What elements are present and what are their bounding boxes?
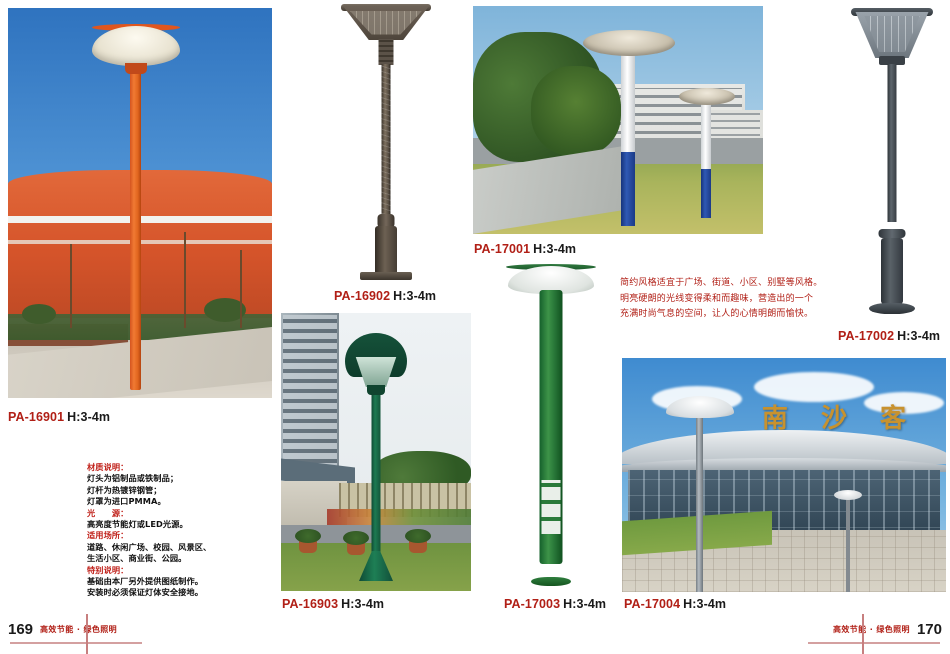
product-photo-pa-16902 [330, 4, 442, 286]
product-photo-pa-17001 [473, 6, 763, 234]
lamp-pole-near [696, 412, 703, 592]
pole-base [881, 238, 903, 304]
product-label-pa-16902: PA-16902H:3-4m [334, 289, 436, 303]
pole-diffuser [621, 50, 635, 152]
spec-note-2: 安装时必须保证灯体安全接地。 [87, 587, 237, 598]
page-number-right: 170 [917, 621, 942, 638]
bare-tree [240, 250, 242, 328]
lamp-pole [372, 391, 381, 573]
product-height: H:3-4m [533, 242, 576, 256]
spec-note-1: 基础由本厂另外提供图纸制作。 [87, 576, 237, 587]
product-code: PA-17004 [624, 597, 680, 611]
spec-material-1: 灯头为铝制品或铁制品； [87, 473, 237, 484]
footer-tagline-right: 高效节能 · 绿色照明 [826, 624, 917, 635]
product-code: PA-17002 [838, 329, 894, 343]
footer-right: 高效节能 · 绿色照明 170 [826, 618, 942, 640]
product-label-pa-17002: PA-17002H:3-4m [838, 329, 940, 343]
potted-plant [299, 540, 317, 553]
description-line-1: 简约风格适宜于广场、街道、小区、别墅等风格。 [620, 276, 832, 292]
product-code: PA-16902 [334, 289, 390, 303]
product-height: H:3-4m [393, 289, 436, 303]
flower-bed [327, 509, 471, 525]
product-code: PA-17001 [474, 242, 530, 256]
spec-usage-title: 适用场所： [87, 530, 237, 541]
product-code: PA-16901 [8, 410, 64, 424]
description-line-2: 明亮硬朗的光线变得柔和而趣味，营造出的一个 [620, 292, 832, 308]
lamp-pole-far [701, 102, 711, 218]
base-plate [531, 577, 571, 586]
footer-tagline-left: 高效节能 · 绿色照明 [33, 624, 124, 635]
product-photo-pa-16901 [8, 8, 272, 398]
product-label-pa-17001: PA-17001H:3-4m [474, 242, 576, 256]
product-photo-pa-17004: 南 沙 客 [622, 358, 946, 592]
spec-material-title: 材质说明： [87, 462, 237, 473]
base-plate [869, 303, 915, 314]
description-line-3: 充满时尚气息的空间，让人的心情明朗而愉快。 [620, 307, 832, 323]
product-height: H:3-4m [67, 410, 110, 424]
lamp-head-conical [343, 6, 429, 40]
base-plate [360, 272, 412, 280]
product-height: H:3-4m [683, 597, 726, 611]
product-height: H:3-4m [341, 597, 384, 611]
page-number-left: 169 [8, 621, 33, 638]
lamp-neck [379, 39, 394, 65]
lamp-pole [888, 64, 897, 222]
product-label-pa-17003: PA-17003H:3-4m [504, 597, 606, 611]
spec-usage-2: 生活小区、商业街、公园。 [87, 553, 237, 564]
product-height: H:3-4m [897, 329, 940, 343]
lamp-pole [130, 60, 141, 390]
lamp-disc-far [679, 88, 735, 105]
footer-left: 169 高效节能 · 绿色照明 [8, 618, 124, 640]
catalog-page-spread: PA-16901H:3-4m PA-16902H:3-4m PA-17001H:… [0, 0, 950, 654]
product-code: PA-17003 [504, 597, 560, 611]
product-photo-pa-16903 [281, 313, 471, 591]
product-photo-pa-17002 [838, 4, 946, 322]
product-label-pa-17004: PA-17004H:3-4m [624, 597, 726, 611]
spec-source-1: 高亮度节能灯或LED光源。 [87, 519, 237, 530]
pole-diffuser [701, 102, 711, 169]
column-window-grid [542, 480, 561, 534]
pole-base [375, 226, 397, 274]
specifications-block: 材质说明： 灯头为铝制品或铁制品； 灯杆为热镀锌钢管； 灯罩为进口PMMA。 光… [87, 462, 237, 599]
lamp-pole-far [846, 498, 850, 592]
description-paragraph: 简约风格适宜于广场、街道、小区、别墅等风格。 明亮硬朗的光线变得柔和而趣味，营造… [620, 276, 832, 323]
spec-material-2: 灯杆为热镀锌钢管； [87, 485, 237, 496]
office-tower [281, 313, 339, 475]
footer-rule-right [808, 642, 940, 644]
potted-plant [409, 540, 427, 553]
lamp-disc-near [583, 30, 675, 56]
spec-note-title: 特别说明： [87, 565, 237, 576]
lamp-disc-far [834, 490, 862, 500]
lamp-pole-near [621, 50, 635, 226]
product-label-pa-16901: PA-16901H:3-4m [8, 410, 110, 424]
footer-divider-right [862, 614, 864, 654]
product-label-pa-16903: PA-16903H:3-4m [282, 597, 384, 611]
lamp-head-conical [854, 12, 930, 58]
product-code: PA-16903 [282, 597, 338, 611]
spec-material-3: 灯罩为进口PMMA。 [87, 496, 237, 507]
product-height: H:3-4m [563, 597, 606, 611]
pole-collar [879, 229, 906, 238]
footer-rule-left [10, 642, 142, 644]
product-photo-pa-17003 [497, 258, 605, 592]
bare-tree [184, 232, 186, 328]
bare-tree [70, 244, 72, 328]
spec-source-title: 光 源： [87, 508, 237, 519]
footer-divider-left [86, 614, 88, 654]
tree-canopy [531, 66, 621, 156]
spec-usage-1: 道路、休闲广场、校园、风景区、 [87, 542, 237, 553]
lamp-bottom-cap [367, 385, 385, 395]
shrub [22, 304, 56, 324]
potted-plant [347, 542, 365, 555]
